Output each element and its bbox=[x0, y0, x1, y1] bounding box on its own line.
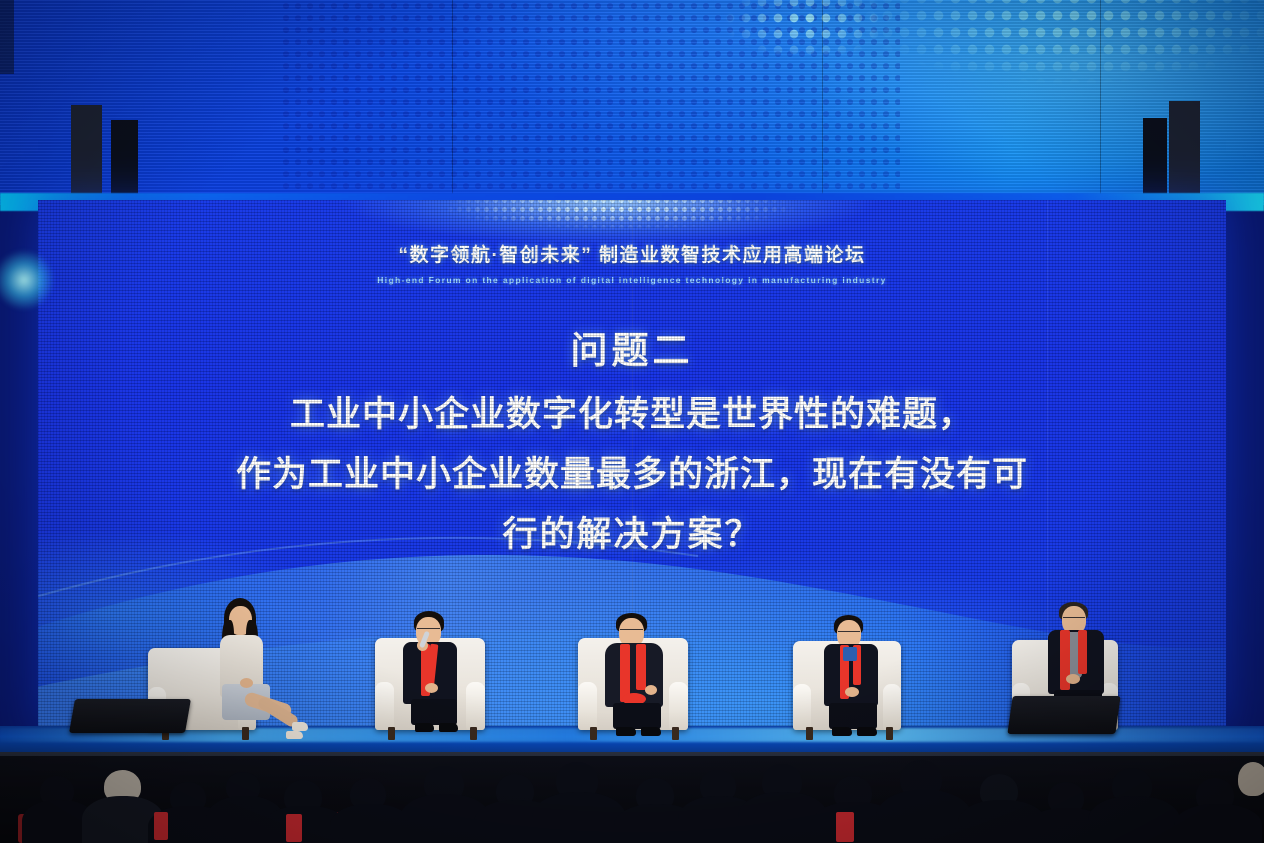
armchair-arm-left bbox=[793, 684, 811, 730]
conference-stage-photo: “数字领航·智创未来” 制造业数智技术应用高端论坛 High-end Forum… bbox=[0, 0, 1264, 843]
necktie bbox=[843, 647, 857, 661]
truss-pillar-left-a bbox=[71, 105, 102, 201]
truss-pillar-right-a bbox=[1143, 118, 1167, 201]
panelist-speaker-2 bbox=[598, 613, 694, 741]
audience-red-scarf bbox=[836, 812, 854, 842]
audience-shoulders bbox=[1088, 796, 1180, 843]
back-wall-dot-pattern-center bbox=[690, 0, 950, 104]
panelist-speaker-3 bbox=[815, 615, 911, 741]
audience-shoulders bbox=[1174, 804, 1262, 843]
question-line-3: 行的解决方案？ bbox=[92, 505, 1172, 565]
glasses-icon bbox=[620, 629, 643, 633]
question-body: 工业中小企业数字化转型是世界性的难题， 作为工业中小企业数量最多的浙江，现在有没… bbox=[92, 385, 1172, 565]
armchair-arm-left bbox=[578, 682, 597, 730]
glasses-icon bbox=[1063, 617, 1085, 621]
panel-seam bbox=[1100, 0, 1101, 205]
audience-red-scarf bbox=[286, 814, 302, 842]
question-line-1: 工业中小企业数字化转型是世界性的难题， bbox=[92, 385, 1172, 445]
question-heading: 问题二 bbox=[38, 320, 1226, 374]
audience-head bbox=[1238, 762, 1264, 796]
audience-red-scarf bbox=[154, 812, 168, 840]
audience-area bbox=[0, 756, 1264, 843]
stage-monitor-right bbox=[1007, 696, 1120, 734]
red-scarf bbox=[636, 644, 646, 690]
truss-pillar-left-b bbox=[111, 120, 138, 201]
red-scarf bbox=[1078, 630, 1087, 674]
panel-seam bbox=[452, 0, 453, 205]
truss-pillar-right-b bbox=[1169, 101, 1200, 201]
screen-top-dot-pattern bbox=[338, 200, 898, 254]
panelist-speaker-1 bbox=[395, 611, 491, 739]
question-line-2: 作为工业中小企业数量最多的浙江，现在有没有可 bbox=[92, 445, 1172, 505]
armchair-arm-left bbox=[375, 682, 394, 730]
armchair-leg bbox=[388, 727, 395, 740]
truss-pillar-edge bbox=[0, 0, 14, 74]
armchair-leg bbox=[590, 727, 597, 740]
stage-monitor-left bbox=[69, 699, 191, 733]
panel-seam bbox=[822, 0, 823, 205]
back-wall-led bbox=[0, 0, 1264, 205]
panelist-moderator bbox=[208, 598, 308, 738]
glasses-icon bbox=[838, 631, 860, 635]
armchair-leg bbox=[806, 727, 813, 740]
audience-shoulders bbox=[532, 792, 626, 843]
